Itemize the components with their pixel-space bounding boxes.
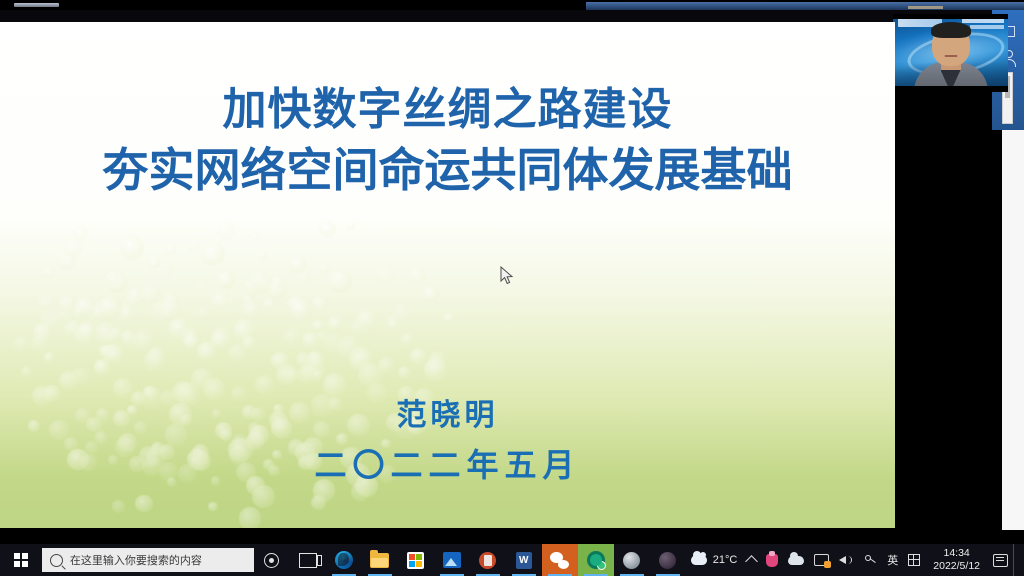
slide-title-line1: 加快数字丝绸之路建设 xyxy=(0,80,895,139)
toolbar-segment xyxy=(908,6,943,9)
ime-keyboard-button[interactable] xyxy=(903,544,925,576)
tray-volume[interactable] xyxy=(834,544,858,576)
tray-onedrive[interactable] xyxy=(783,544,809,576)
cortana-icon[interactable] xyxy=(254,544,290,576)
taskbar-app-word[interactable] xyxy=(506,544,542,576)
cloud-icon xyxy=(691,555,707,565)
system-tray[interactable]: 21°C 英 14:34 2022/5/12 xyxy=(686,544,1024,576)
window-chrome-black-band xyxy=(0,10,1024,22)
presenter-video-thumbnail[interactable] xyxy=(893,14,1008,92)
taskbar-app-wechat[interactable] xyxy=(542,544,578,576)
taskbar-app-powerpoint[interactable] xyxy=(470,544,506,576)
display-settings-icon xyxy=(814,554,829,566)
presenter-figure xyxy=(914,30,988,92)
side-panel-white-area xyxy=(1002,130,1024,530)
search-placeholder: 在这里输入你要搜索的内容 xyxy=(70,552,202,568)
video-background-text-line2 xyxy=(970,25,1004,29)
pink-app-icon xyxy=(766,554,778,567)
presenter-mouth xyxy=(944,55,957,57)
notification-center-icon xyxy=(993,554,1008,567)
taskbar-app-grey[interactable] xyxy=(614,544,650,576)
presenter-hair xyxy=(931,22,971,38)
search-input[interactable]: 在这里输入你要搜索的内容 xyxy=(42,548,254,572)
store-icon xyxy=(407,552,424,569)
taskbar-clock[interactable]: 14:34 2022/5/12 xyxy=(925,547,988,573)
tray-display-settings[interactable] xyxy=(809,544,834,576)
desktop-screen: 加快数字丝绸之路建设 夯实网络空间命运共同体发展基础 范晓明 二〇二二年五月 在… xyxy=(0,0,1024,576)
taskbar-app-tencent-meeting[interactable] xyxy=(578,544,614,576)
ime-language-indicator[interactable]: 英 xyxy=(882,544,903,576)
background-window-toolbar xyxy=(586,2,1024,10)
slide-author: 范晓明 xyxy=(0,390,895,434)
start-button[interactable] xyxy=(0,544,42,576)
mouse-pointer xyxy=(500,266,514,286)
weather-temperature: 21°C xyxy=(713,554,738,566)
taskbar-app-edge[interactable] xyxy=(326,544,362,576)
windows-taskbar[interactable]: 在这里输入你要搜索的内容 21°C xyxy=(0,544,1024,576)
ime-keyboard-icon xyxy=(908,554,920,566)
pin-icon xyxy=(863,554,877,566)
slide-title-line2: 夯实网络空间命运共同体发展基础 xyxy=(0,139,895,201)
video-letterbox-bottom xyxy=(893,86,1008,92)
presentation-slide[interactable]: 加快数字丝绸之路建设 夯实网络空间命运共同体发展基础 范晓明 二〇二二年五月 xyxy=(0,22,895,528)
task-view-icon[interactable] xyxy=(290,544,326,576)
tray-pink-app[interactable] xyxy=(761,544,783,576)
show-desktop-button[interactable] xyxy=(1013,544,1020,576)
volume-icon xyxy=(839,554,853,566)
windows-logo-icon xyxy=(14,553,28,567)
clock-time: 14:34 xyxy=(933,547,980,560)
tray-overflow-button[interactable] xyxy=(742,544,761,576)
taskbar-app-photos[interactable] xyxy=(434,544,470,576)
notification-center-button[interactable] xyxy=(988,544,1013,576)
clock-date: 2022/5/12 xyxy=(933,560,980,573)
taskbar-app-file-explorer[interactable] xyxy=(362,544,398,576)
slide-title: 加快数字丝绸之路建设 夯实网络空间命运共同体发展基础 xyxy=(0,80,895,201)
video-letterbox-top xyxy=(893,14,1008,19)
taskbar-app-microsoft-store[interactable] xyxy=(398,544,434,576)
weather-widget[interactable]: 21°C xyxy=(686,544,743,576)
tray-pin[interactable] xyxy=(858,544,882,576)
slide-date: 二〇二二年五月 xyxy=(0,440,895,486)
search-icon xyxy=(50,554,63,567)
taskbar-app-dark[interactable] xyxy=(650,544,686,576)
chevron-up-icon xyxy=(745,555,758,568)
onedrive-icon xyxy=(788,556,804,565)
background-window-titlebar-left xyxy=(14,3,59,7)
